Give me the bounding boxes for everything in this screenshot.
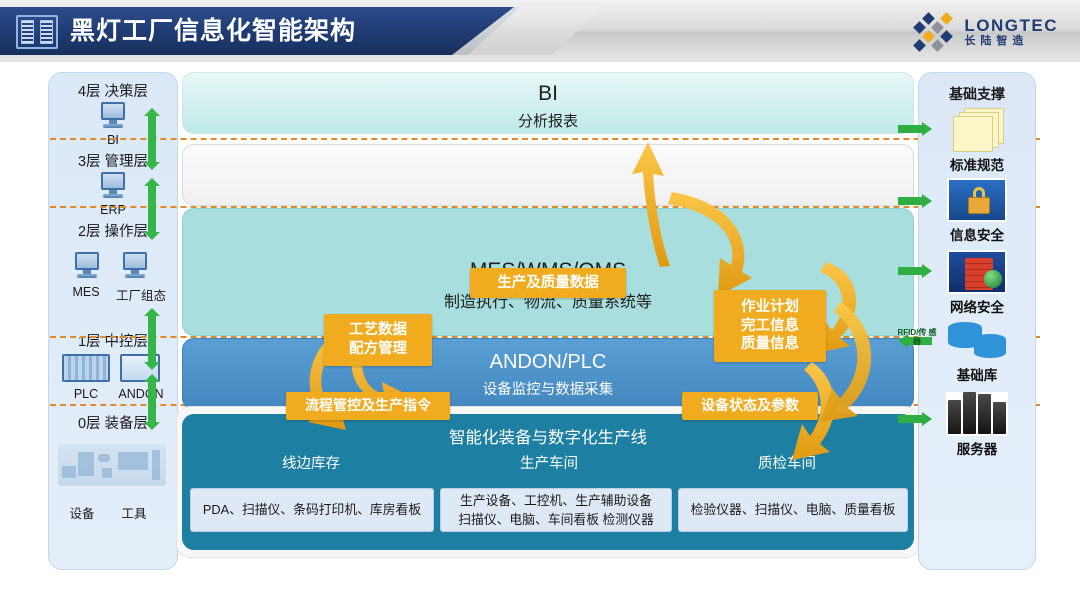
brand-logo: LONGTEC 长陆智造 <box>910 12 1058 52</box>
support-label-infosec: 信息安全 <box>918 224 1036 244</box>
band-equipment-title: 智能化装备与数字化生产线 <box>182 424 914 448</box>
tag-process-quality[interactable]: 生产及质量数据 <box>470 268 626 298</box>
logo-text-en: LONGTEC <box>964 17 1058 35</box>
support-arrow-server <box>898 412 932 426</box>
divider-bi-erp <box>50 138 1040 140</box>
monitor-icon-bi <box>100 102 126 128</box>
icon-caption-equipment: 设备 <box>58 503 106 522</box>
page-header: 黑灯工厂信息化智能架构 LONGTEC 长陆智造 <box>0 0 1080 62</box>
tag-process-data-line1: 工艺数据 <box>349 321 407 340</box>
server-icon <box>946 392 1008 436</box>
link-arrow-bi-erp <box>144 108 160 170</box>
monitor-icon-erp <box>100 172 126 198</box>
support-item-standards[interactable]: 标准规范 <box>918 108 1036 174</box>
equipment-column-3-title: 质检车间 <box>672 452 902 473</box>
icon-caption-scada: 工厂组态 <box>110 285 172 304</box>
tag-job-plan-line3: 质量信息 <box>741 335 799 354</box>
support-label-database: 基础库 <box>918 364 1036 384</box>
support-arrow-infosec <box>898 194 932 208</box>
lock-security-icon <box>947 178 1007 222</box>
tag-process-data[interactable]: 工艺数据 配方管理 <box>324 314 432 366</box>
book-icon <box>16 15 58 49</box>
band-bi-title: BI <box>183 82 913 106</box>
database-icon <box>946 320 1008 362</box>
link-arrow-erp-mes <box>144 178 160 240</box>
support-arrow-netsec <box>898 264 932 278</box>
documents-icon <box>950 108 1004 152</box>
equipment-detail-2[interactable]: 生产设备、工控机、生产辅助设备 扫描仪、电脑、车间看板 检测仪器 <box>440 488 672 532</box>
icon-caption-tools: 工具 <box>110 503 158 522</box>
tag-process-control[interactable]: 流程管控及生产指令 <box>286 392 450 420</box>
monitor-icon-scada <box>122 252 148 278</box>
diagram-canvas: 4层 决策层 BI 3层 管理层 ERP 2层 操作层 MES 工厂组态 1层 … <box>0 62 1080 608</box>
equipment-column-1-title: 线边库存 <box>196 452 426 473</box>
tag-device-status[interactable]: 设备状态及参数 <box>682 392 818 420</box>
band-erp[interactable] <box>182 144 914 206</box>
icon-caption-andon: ANDON <box>108 387 174 401</box>
icon-caption-mes: MES <box>60 285 112 299</box>
band-bi-subtitle: 分析报表 <box>183 110 913 131</box>
monitor-icon-mes <box>74 252 100 278</box>
equipment-detail-1[interactable]: PDA、扫描仪、条码打印机、库房看板 <box>190 488 434 532</box>
support-item-server[interactable]: 服务器 <box>918 392 1036 458</box>
layer-label-4: 4层 决策层 <box>48 80 178 101</box>
rfid-sensor-label: RFID/传 感器 <box>894 328 940 346</box>
link-arrow-andon-equipment <box>144 374 160 430</box>
equipment-detail-3[interactable]: 检验仪器、扫描仪、电脑、质量看板 <box>678 488 908 532</box>
support-label-netsec: 网络安全 <box>918 296 1036 316</box>
tag-job-plan-line1: 作业计划 <box>741 298 799 317</box>
logo-text-cn: 长陆智造 <box>964 35 1058 48</box>
tag-job-plan[interactable]: 作业计划 完工信息 质量信息 <box>714 290 826 362</box>
tag-process-data-line2: 配方管理 <box>349 340 407 359</box>
icon-caption-bi: BI <box>88 133 138 147</box>
plc-rack-icon <box>62 354 110 382</box>
band-bi[interactable]: BI 分析报表 <box>182 72 914 134</box>
equipment-column-2-title: 生产车间 <box>434 452 664 473</box>
support-item-infosec[interactable]: 信息安全 <box>918 178 1036 244</box>
equipment-icon <box>58 444 166 486</box>
support-arrow-standards <box>898 122 932 136</box>
tag-job-plan-line2: 完工信息 <box>741 317 799 336</box>
support-label-server: 服务器 <box>918 438 1036 458</box>
right-rail-title: 基础支撑 <box>918 84 1036 104</box>
icon-caption-plc: PLC <box>58 387 114 401</box>
support-item-netsec[interactable]: 网络安全 <box>918 250 1036 316</box>
page-title: 黑灯工厂信息化智能架构 <box>70 14 356 48</box>
support-label-standards: 标准规范 <box>918 154 1036 174</box>
link-arrow-mes-andon <box>144 308 160 370</box>
longtec-logo-mark <box>910 12 956 52</box>
firewall-icon <box>947 250 1007 294</box>
